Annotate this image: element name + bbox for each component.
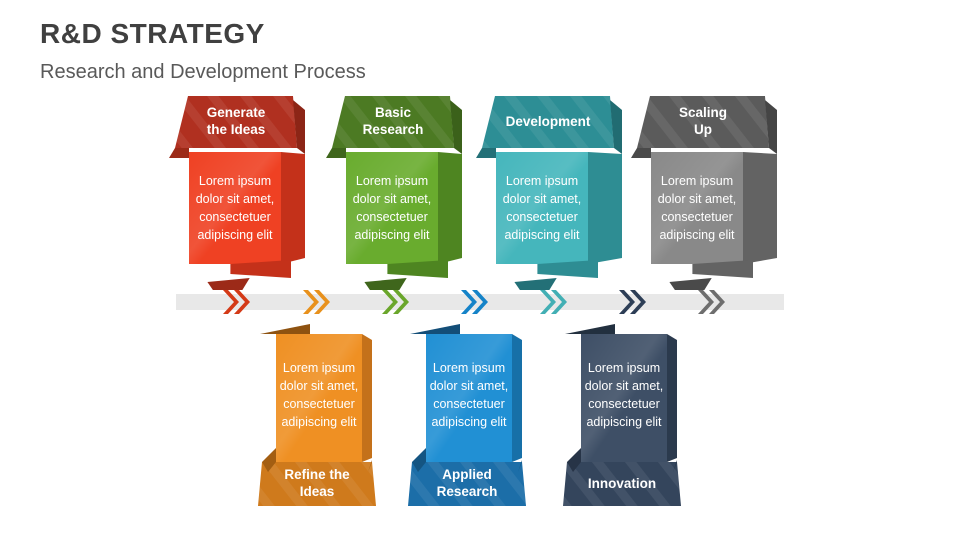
page-title: R&D STRATEGY xyxy=(40,19,265,50)
top-banner-heading-development[interactable]: Development xyxy=(482,96,614,148)
bottom-banner-heading-refine-the-ideas[interactable]: Refine theIdeas xyxy=(258,462,376,506)
top-banner-body-basic-research: Lorem ipsum dolor sit amet, consectetuer… xyxy=(350,158,434,258)
bottom-banner-body-innovation: Lorem ipsum dolor sit amet, consectetuer… xyxy=(583,344,665,446)
bottom-banner-body-applied-research: Lorem ipsum dolor sit amet, consectetuer… xyxy=(428,344,510,446)
heading-text: AppliedResearch xyxy=(408,467,526,501)
body-text: Lorem ipsum dolor sit amet, consectetuer… xyxy=(350,172,434,244)
body-text: Lorem ipsum dolor sit amet, consectetuer… xyxy=(278,359,360,431)
bottom-banner-body-refine-the-ideas: Lorem ipsum dolor sit amet, consectetuer… xyxy=(278,344,360,446)
bottom-banner-heading-innovation[interactable]: Innovation xyxy=(563,462,681,506)
body-text: Lorem ipsum dolor sit amet, consectetuer… xyxy=(583,359,665,431)
top-banner-body-scaling-up: Lorem ipsum dolor sit amet, consectetuer… xyxy=(655,158,739,258)
body-text: Lorem ipsum dolor sit amet, consectetuer… xyxy=(655,172,739,244)
bottom-banner-heading-applied-research[interactable]: AppliedResearch xyxy=(408,462,526,506)
top-banner-body-generate-the-ideas: Lorem ipsum dolor sit amet, consectetuer… xyxy=(193,158,277,258)
body-text: Lorem ipsum dolor sit amet, consectetuer… xyxy=(500,172,584,244)
top-banner-heading-scaling-up[interactable]: ScalingUp xyxy=(637,96,769,148)
body-text: Lorem ipsum dolor sit amet, consectetuer… xyxy=(193,172,277,244)
slide-canvas: R&D STRATEGY Research and Development Pr… xyxy=(0,0,960,540)
heading-text: Generatethe Ideas xyxy=(175,105,297,139)
heading-text: ScalingUp xyxy=(637,105,769,139)
heading-text: Development xyxy=(482,114,614,131)
body-text: Lorem ipsum dolor sit amet, consectetuer… xyxy=(428,359,510,431)
heading-text: Refine theIdeas xyxy=(258,467,376,501)
page-subtitle: Research and Development Process xyxy=(40,61,366,83)
top-banner-heading-basic-research[interactable]: BasicResearch xyxy=(332,96,454,148)
top-banner-heading-generate-the-ideas[interactable]: Generatethe Ideas xyxy=(175,96,297,148)
top-banner-body-development: Lorem ipsum dolor sit amet, consectetuer… xyxy=(500,158,584,258)
heading-text: Innovation xyxy=(563,476,681,493)
heading-text: BasicResearch xyxy=(332,105,454,139)
